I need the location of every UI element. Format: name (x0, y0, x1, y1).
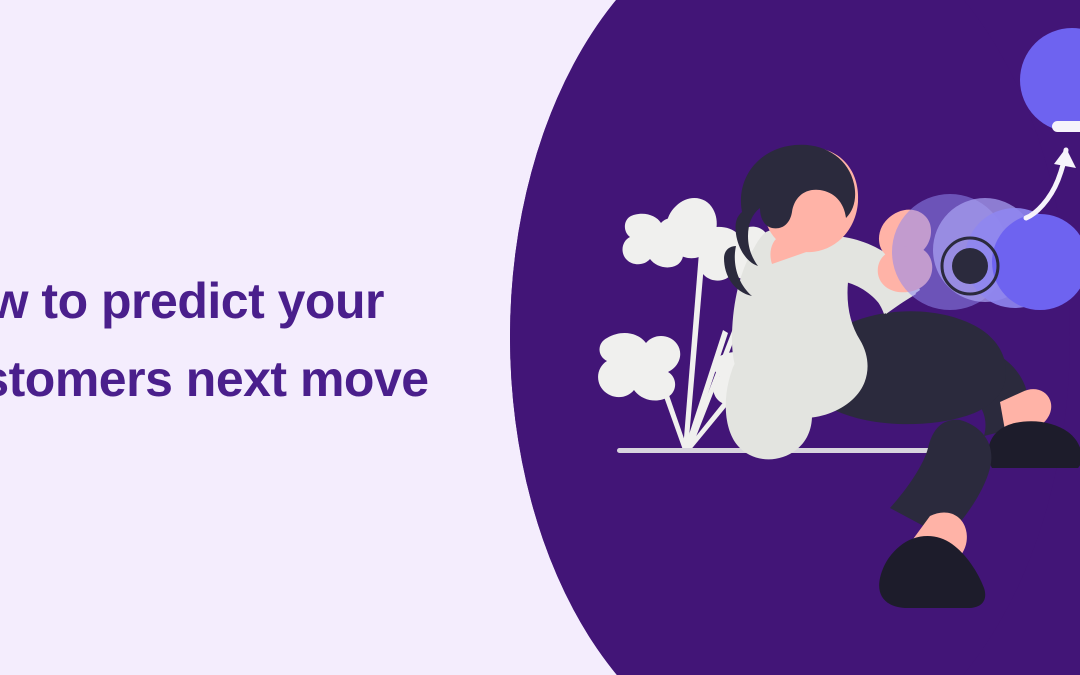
blog-hero-banner: How to predict your customers next move (0, 0, 1080, 675)
headline-line-1: How to predict your (0, 262, 484, 340)
page-title: How to predict your customers next move (0, 262, 484, 418)
white-pill-bar (1052, 121, 1080, 132)
headline-line-2: customers next move (0, 340, 484, 418)
